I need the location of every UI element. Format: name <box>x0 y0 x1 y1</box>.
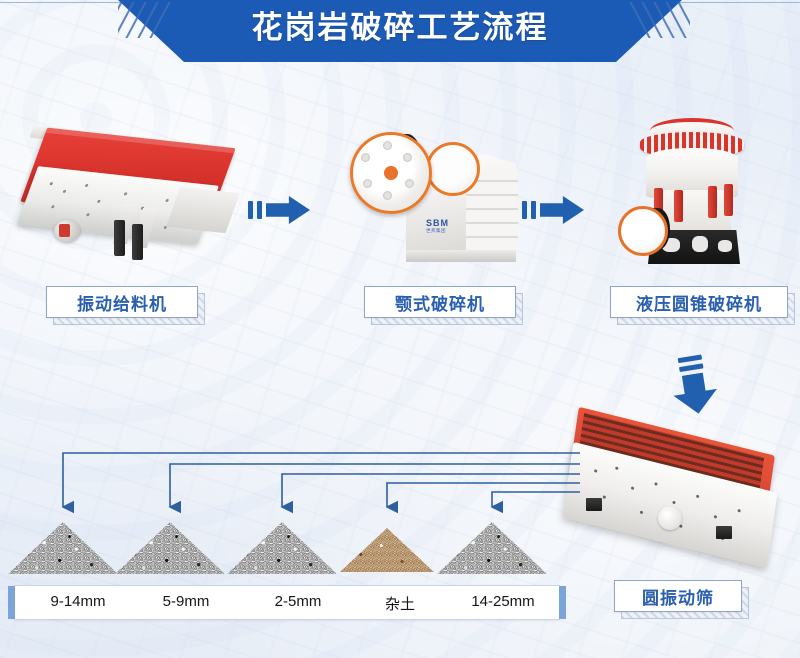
label-cone-crusher[interactable]: 液压圆锥破碎机 <box>610 286 786 316</box>
jaw-brand-sub: 世邦集团 <box>426 228 446 234</box>
label-jaw-crusher-text: 颚式破碎机 <box>364 286 516 318</box>
feeder-motor <box>54 220 80 242</box>
feeder-leg-2 <box>132 224 143 260</box>
feeder-side-rail <box>166 187 240 234</box>
jaw-brand-mark: SBM <box>426 218 449 228</box>
arrow-jaw-to-cone-icon <box>522 195 584 225</box>
feeder-leg-1 <box>114 220 125 256</box>
label-vibrating-screen[interactable]: 圆振动筛 <box>614 580 740 610</box>
jaw-flywheel-small <box>426 142 480 196</box>
size-label-2: 5-9mm <box>127 593 245 610</box>
product-pile-4 <box>340 528 434 572</box>
product-pile-2 <box>115 522 225 574</box>
product-pile-1 <box>8 522 118 574</box>
product-size-bar: 9-14mm 5-9mm 2-5mm 杂土 14-25mm <box>14 585 560 620</box>
jaw-flywheel-large <box>350 132 432 214</box>
product-pile-5 <box>437 522 547 574</box>
header-banner: 花岗岩破碎工艺流程 <box>0 0 800 62</box>
flow-diagram-canvas: 花岗岩破碎工艺流程 SBM 世邦集团 <box>0 0 800 658</box>
cone-hydraulic-cylinder-2 <box>674 190 683 222</box>
size-label-3: 2-5mm <box>239 593 357 610</box>
jaw-crusher-image: SBM 世邦集团 <box>348 122 526 262</box>
label-vibrating-feeder[interactable]: 振动给料机 <box>46 286 196 316</box>
page-title: 花岗岩破碎工艺流程 <box>0 0 800 56</box>
vibrating-screen-image <box>566 422 792 570</box>
product-pile-3 <box>227 522 337 574</box>
arrow-feeder-to-jaw-icon <box>248 195 310 225</box>
hydraulic-cone-crusher-image <box>612 112 772 270</box>
screen-exciter-hub <box>658 506 682 530</box>
cone-drive-pulley <box>618 206 668 256</box>
screen-mount-block-right <box>716 526 732 539</box>
label-jaw-crusher[interactable]: 颚式破碎机 <box>364 286 514 316</box>
screen-mount-block-left <box>586 498 602 511</box>
label-cone-crusher-text: 液压圆锥破碎机 <box>610 286 788 318</box>
size-bar-cap-left <box>8 586 15 619</box>
jaw-base-foot <box>406 250 516 262</box>
arrow-cone-to-screen-icon <box>668 353 721 417</box>
label-vibrating-feeder-text: 振动给料机 <box>46 286 198 318</box>
size-label-4: 杂土 <box>345 593 455 614</box>
vibrating-feeder-image <box>22 128 236 256</box>
size-label-5: 14-25mm <box>447 593 559 610</box>
size-bar-cap-right <box>559 586 566 619</box>
cone-hydraulic-cylinder-3 <box>708 186 717 218</box>
size-label-1: 9-14mm <box>19 593 137 610</box>
label-vibrating-screen-text: 圆振动筛 <box>614 580 742 612</box>
cone-hydraulic-cylinder-4 <box>724 184 733 216</box>
